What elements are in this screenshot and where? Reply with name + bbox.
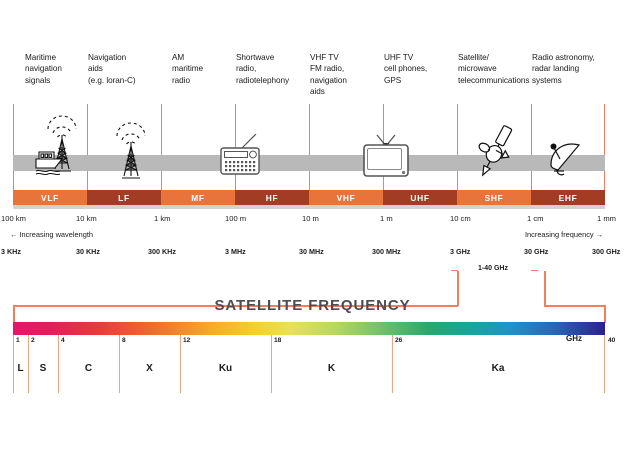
satellite-icon xyxy=(468,120,522,182)
spectrum-tick-label-12: 12 xyxy=(183,337,190,344)
wavelength-label-8: 1 mm xyxy=(597,214,616,223)
ship-and-radio-tower-icon xyxy=(30,115,90,177)
frequency-label-1: 30 KHz xyxy=(76,247,100,256)
usage-label-shortwave-radio: Shortwave radio, radiotelephony xyxy=(236,52,309,86)
usage-label-uhf-tv-cell-phones: UHF TV cell phones, GPS xyxy=(384,52,452,86)
wavelength-label-2: 1 km xyxy=(154,214,170,223)
increasing-wavelength-label: ← Increasing wavelength xyxy=(10,230,93,239)
frequency-label-3: 3 MHz xyxy=(225,247,246,256)
band-strip-shadow xyxy=(13,205,605,209)
spectrum-tick-label-26: 26 xyxy=(395,337,402,344)
spectrum-tick-label-18: 18 xyxy=(274,337,281,344)
radio-receiver-icon xyxy=(216,132,270,180)
spectrum-tick-label-40: 40 xyxy=(608,337,615,344)
satellite-band-K: K xyxy=(271,363,392,374)
frequency-label-0: 3 KHz xyxy=(1,247,21,256)
spectrum-tick-label-2: 2 xyxy=(31,337,35,344)
band-cell-shf: SHF xyxy=(457,190,531,205)
satellite-range-note: 1-40 GHz xyxy=(478,265,508,272)
band-cell-ehf: EHF xyxy=(531,190,605,205)
satellite-band-L: L xyxy=(13,363,28,374)
wavelength-label-1: 10 km xyxy=(76,214,97,223)
satellite-spectrum-bar xyxy=(13,322,605,335)
band-cell-vhf: VHF xyxy=(309,190,383,205)
frequency-label-4: 30 MHz xyxy=(299,247,324,256)
usage-label-radio-astronomy: Radio astronomy, radar landing systems xyxy=(532,52,620,86)
spectrum-tick-label-1: 1 xyxy=(16,337,20,344)
usage-label-navigation-aids: Navigation aids (e.g. loran-C) xyxy=(88,52,156,86)
satellite-band-C: C xyxy=(58,363,119,374)
band-cell-uhf: UHF xyxy=(383,190,457,205)
wavelength-label-3: 100 m xyxy=(225,214,246,223)
satellite-band-Ku: Ku xyxy=(180,363,271,374)
spectrum-tick-label-4: 4 xyxy=(61,337,65,344)
band-cell-mf: MF xyxy=(161,190,235,205)
band-cell-vlf: VLF xyxy=(13,190,87,205)
frequency-label-8: 300 GHz xyxy=(592,247,620,256)
radio-tower-icon xyxy=(108,124,154,182)
wavelength-label-4: 10 m xyxy=(302,214,319,223)
satellite-band-Ka: Ka xyxy=(392,363,604,374)
spectrum-tick-40 xyxy=(604,335,605,393)
satellite-band-X: X xyxy=(119,363,180,374)
wavelength-label-7: 1 cm xyxy=(527,214,543,223)
rf-band-strip: VLF LF MF HF VHF UHF SHF EHF xyxy=(13,190,605,205)
frequency-label-2: 300 KHz xyxy=(148,247,176,256)
wavelength-label-6: 10 cm xyxy=(450,214,471,223)
satellite-band-S: S xyxy=(28,363,58,374)
television-icon xyxy=(358,132,414,180)
usage-label-satellite-microwave: Satellite/ microwave telecommunications xyxy=(458,52,534,86)
wavelength-label-0: 100 km xyxy=(1,214,26,223)
usage-label-am-maritime-radio: AM maritime radio xyxy=(172,52,232,86)
frequency-label-5: 300 MHz xyxy=(372,247,401,256)
satellite-frequency-title: SATELLITE FREQUENCY xyxy=(0,297,625,314)
usage-label-maritime-navigation-signals: Maritime navigation signals xyxy=(25,52,87,86)
wavelength-label-5: 1 m xyxy=(380,214,393,223)
rf-spectrum-diagram: Maritime navigation signals Navigation a… xyxy=(0,0,625,470)
band-cell-lf: LF xyxy=(87,190,161,205)
band-cell-hf: HF xyxy=(235,190,309,205)
frequency-label-6: 3 GHz xyxy=(450,247,470,256)
spectrum-unit-label: GHz xyxy=(566,334,582,343)
spectrum-tick-label-8: 8 xyxy=(122,337,126,344)
frequency-label-7: 30 GHz xyxy=(524,247,548,256)
increasing-frequency-label: Increasing frequency → xyxy=(525,230,603,239)
satellite-dish-icon xyxy=(538,133,594,179)
range-tick-right xyxy=(531,270,538,271)
usage-label-vhf-tv-fm-radio: VHF TV FM radio, navigation aids xyxy=(310,52,375,98)
